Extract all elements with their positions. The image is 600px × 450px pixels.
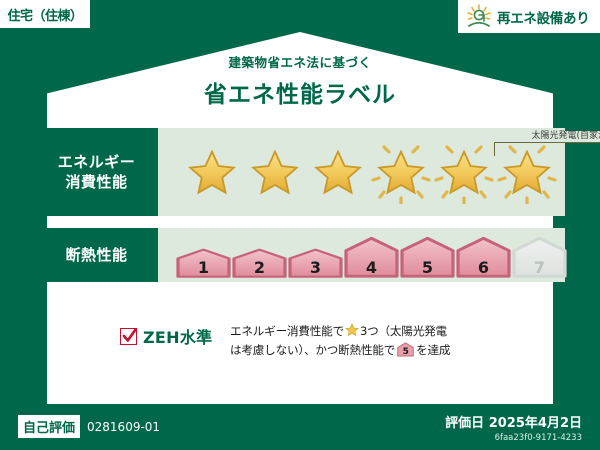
check-icon bbox=[121, 326, 138, 346]
insulation-grade-value: 7 bbox=[512, 260, 567, 276]
insulation-grade-value: 4 bbox=[344, 260, 399, 276]
energy-row-label: エネルギー 消費性能 bbox=[35, 128, 158, 216]
insulation-grade-badge: 3 bbox=[288, 248, 343, 278]
star-icon-solar bbox=[369, 139, 432, 205]
insulation-grade-badge: 1 bbox=[176, 248, 231, 278]
inline-star-icon bbox=[345, 323, 359, 337]
zeh-check-group: ZEH水準 bbox=[120, 322, 230, 348]
energy-row-label-line2: 消費性能 bbox=[65, 172, 127, 192]
insulation-grade-value: 2 bbox=[232, 260, 287, 276]
star-icon bbox=[180, 139, 243, 205]
insulation-row-label-text: 断熱性能 bbox=[65, 245, 127, 265]
insulation-row-label: 断熱性能 bbox=[35, 228, 158, 282]
insulation-performance-row: 断熱性能 1 bbox=[35, 228, 565, 282]
star-icon bbox=[306, 139, 369, 205]
label-title: 省エネ性能ラベル bbox=[0, 75, 600, 109]
solar-sun-icon bbox=[464, 4, 494, 30]
evaluation-date-line: 評価日 2025年4月2日 bbox=[445, 412, 582, 431]
insulation-grade-value: 1 bbox=[176, 260, 231, 276]
insulation-grade-value: 5 bbox=[400, 260, 455, 276]
zeh-standard-block: ZEH水準 エネルギー消費性能で3つ（太陽光発電 は考慮しない）、かつ断熱性能で… bbox=[120, 322, 520, 360]
zeh-desc-star-count: 3つ（太陽光発電 bbox=[360, 324, 447, 338]
evaluation-date-label: 評価日 bbox=[445, 416, 484, 431]
energy-performance-label: 住宅（住棟） 再エネ設備あり 建築物省エネ法に基づく 省エネ性能ラベル エネル bbox=[0, 0, 600, 450]
inline-grade-value: 5 bbox=[397, 348, 414, 357]
insulation-grade-badge: 6 bbox=[456, 236, 511, 278]
solar-contribution-bracket: 太陽光発電(自家消費)分 bbox=[492, 134, 600, 156]
inline-grade-badge: 5 bbox=[397, 342, 414, 357]
solar-bracket-line bbox=[494, 142, 600, 156]
zeh-description: エネルギー消費性能で3つ（太陽光発電 は考慮しない）、かつ断熱性能で5を達成 bbox=[230, 322, 520, 360]
zeh-desc-part1: エネルギー消費性能で bbox=[230, 324, 344, 338]
zeh-checkbox bbox=[120, 328, 137, 345]
building-type-tab: 住宅（住棟） bbox=[0, 0, 90, 28]
title-block: 建築物省エネ法に基づく 省エネ性能ラベル bbox=[0, 52, 600, 109]
energy-performance-row: エネルギー 消費性能 太陽光発電(自家消費)分 bbox=[35, 128, 565, 216]
self-evaluation-group: 自己評価 0281609-01 bbox=[18, 415, 160, 438]
star-icon bbox=[243, 139, 306, 205]
label-footer: 自己評価 0281609-01 評価日 2025年4月2日 6faa23f0-9… bbox=[0, 404, 600, 450]
label-subtitle: 建築物省エネ法に基づく bbox=[0, 52, 600, 71]
insulation-row-body: 1 2 bbox=[158, 228, 565, 282]
insulation-grade-scale: 1 2 bbox=[158, 228, 565, 282]
energy-row-label-line1: エネルギー bbox=[58, 152, 136, 172]
insulation-grade-badge: 2 bbox=[232, 248, 287, 278]
zeh-desc-part3: を達成 bbox=[416, 343, 450, 357]
renewable-badge-label: 再エネ設備あり bbox=[497, 7, 589, 27]
insulation-grade-badge: 4 bbox=[344, 236, 399, 278]
energy-row-body: 太陽光発電(自家消費)分 bbox=[158, 128, 565, 216]
evaluation-id: 0281609-01 bbox=[87, 420, 160, 434]
zeh-desc-part2: は考慮しない）、かつ断熱性能で bbox=[230, 343, 395, 357]
insulation-grade-badge: 5 bbox=[400, 236, 455, 278]
solar-bracket-label: 太陽光発電(自家消費)分 bbox=[492, 131, 600, 142]
evaluation-date-group: 評価日 2025年4月2日 6faa23f0-9171-4233 bbox=[445, 412, 582, 443]
evaluation-uuid: 6faa23f0-9171-4233 bbox=[445, 433, 582, 443]
star-icon-solar bbox=[432, 139, 495, 205]
insulation-grade-value: 6 bbox=[456, 260, 511, 276]
insulation-grade-value: 3 bbox=[288, 260, 343, 276]
renewable-equipment-badge: 再エネ設備あり bbox=[458, 0, 600, 33]
building-type-label: 住宅（住棟） bbox=[7, 5, 82, 24]
zeh-label: ZEH水準 bbox=[143, 324, 212, 348]
self-evaluation-tag: 自己評価 bbox=[18, 415, 80, 438]
evaluation-date-value: 2025年4月2日 bbox=[489, 416, 582, 431]
insulation-grade-badge: 7 bbox=[512, 236, 567, 278]
